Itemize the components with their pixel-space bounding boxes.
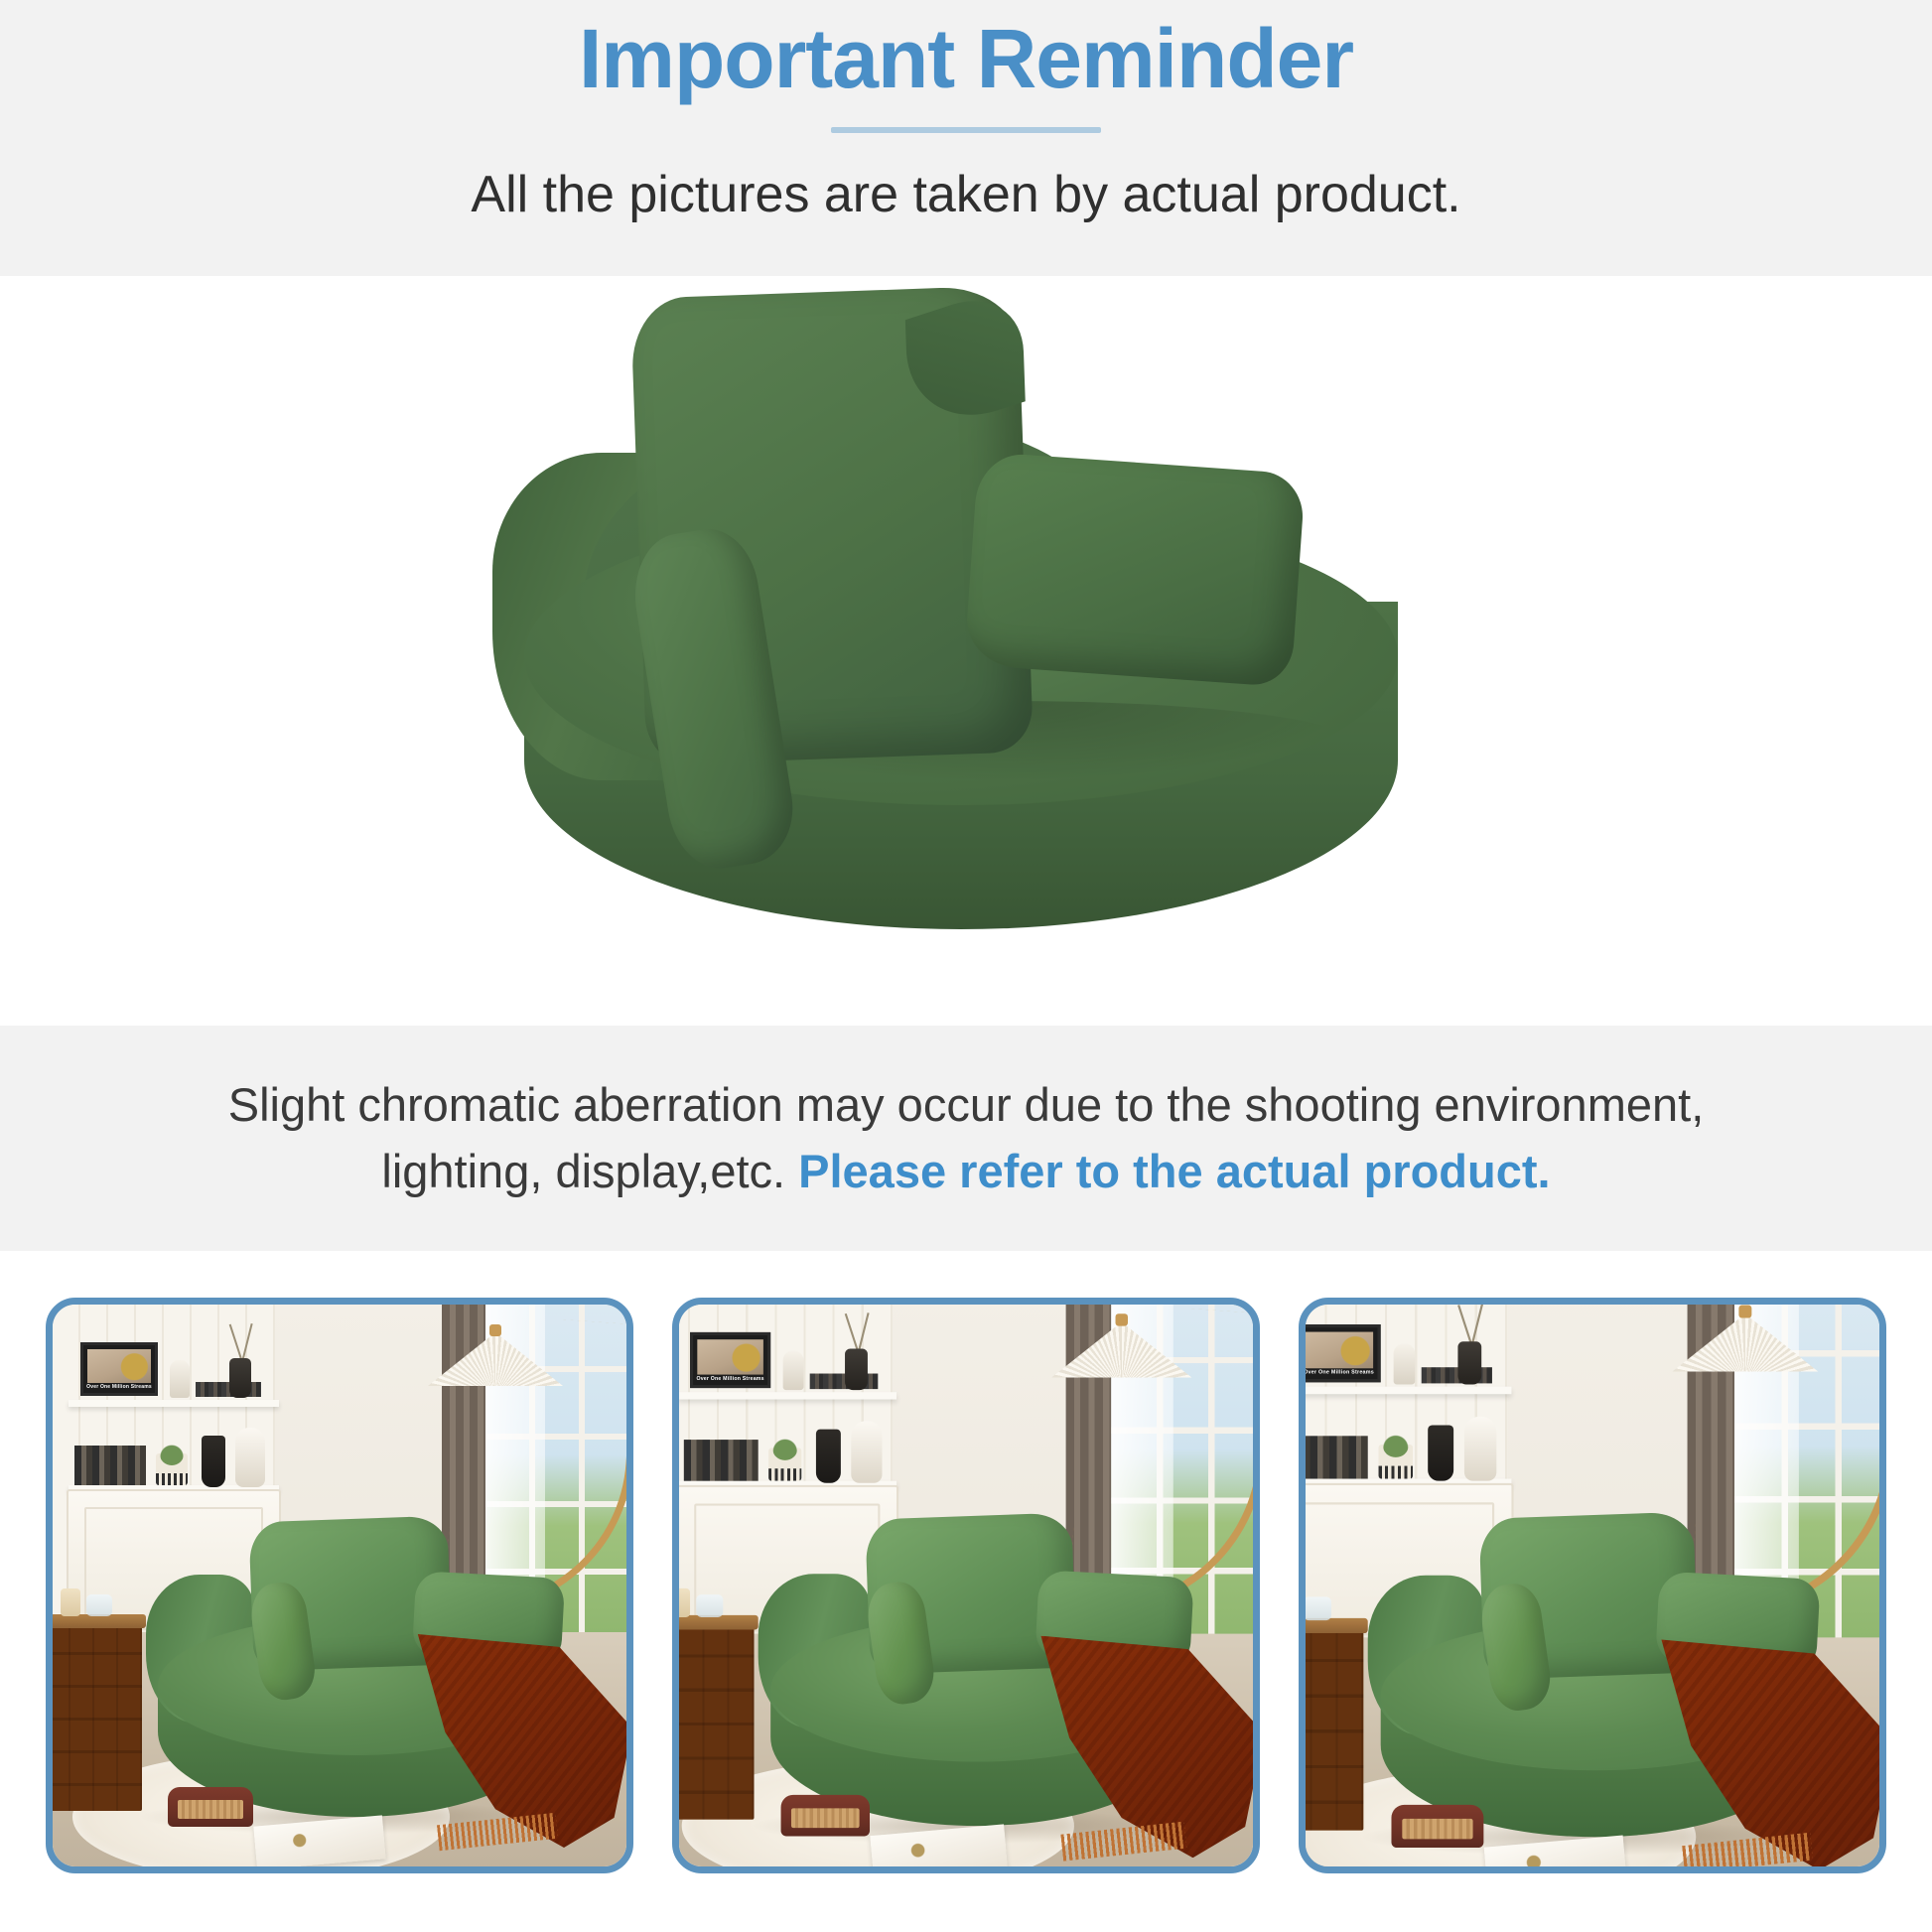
lifestyle-scene-3: Over One Million Streams [1306, 1305, 1879, 1866]
nightstand-top [679, 1615, 759, 1630]
thumbnail-1[interactable]: Over One Million Streams [46, 1298, 633, 1873]
black-sculptural-vase [816, 1430, 841, 1483]
header-band: Important Reminder All the pictures are … [0, 0, 1932, 276]
thumbnail-2[interactable]: Over One Million Streams [672, 1298, 1260, 1873]
disclaimer-line-1: Slight chromatic aberration may occur du… [228, 1072, 1705, 1139]
poster-caption: Over One Million Streams [696, 1376, 763, 1382]
book-stack-lower [1306, 1436, 1368, 1478]
nightstand-top [53, 1614, 146, 1628]
book-stack-upper [810, 1374, 879, 1390]
vintage-radio [1391, 1805, 1483, 1848]
hero-product-band [0, 276, 1932, 1026]
dark-vase [229, 1358, 251, 1398]
gold-record-poster: Over One Million Streams [80, 1342, 158, 1396]
dark-vase [845, 1349, 868, 1391]
lamp-finial [1116, 1313, 1128, 1325]
disclaimer-band: Slight chromatic aberration may occur du… [0, 1026, 1932, 1251]
poster-caption: Over One Million Streams [1306, 1369, 1374, 1375]
product-reminder-page: Important Reminder All the pictures are … [0, 0, 1932, 1932]
right-lumbar-pillow [964, 451, 1306, 686]
shelf-upper [1306, 1387, 1511, 1395]
white-sculptural-vase [235, 1428, 265, 1487]
gold-record-poster: Over One Million Streams [690, 1332, 770, 1388]
thumbnail-band: Over One Million Streams [0, 1251, 1932, 1932]
thumbnail-3[interactable]: Over One Million Streams [1299, 1298, 1886, 1873]
disclaimer-line-2: lighting, display,etc. Please refer to t… [381, 1139, 1550, 1205]
glass-jar [696, 1594, 723, 1617]
vintage-radio [781, 1795, 870, 1837]
white-sculptural-vase [851, 1421, 882, 1482]
lamp-finial [489, 1324, 501, 1336]
figurine [1394, 1343, 1416, 1384]
black-sculptural-vase [202, 1436, 225, 1487]
dried-branches [221, 1318, 271, 1362]
gold-record-poster: Over One Million Streams [1306, 1324, 1381, 1382]
black-sculptural-vase [1428, 1426, 1453, 1481]
book-stack-upper [1422, 1367, 1492, 1383]
white-sculptural-vase [1464, 1417, 1496, 1481]
wooden-nightstand [679, 1623, 755, 1820]
wooden-nightstand [1306, 1627, 1363, 1831]
figurine [783, 1351, 804, 1391]
lifestyle-scene-2: Over One Million Streams [679, 1305, 1253, 1866]
nightstand-top [1306, 1618, 1368, 1633]
lamp-finial [1738, 1306, 1751, 1318]
disclaimer-line-2-plain: lighting, display,etc. [381, 1145, 798, 1197]
glass-jar [86, 1594, 112, 1616]
record-artwork [1306, 1332, 1373, 1369]
shelf-upper [69, 1400, 279, 1407]
potted-plant [156, 1453, 188, 1485]
glass-jar [1306, 1596, 1331, 1620]
header-subtitle: All the pictures are taken by actual pro… [471, 165, 1460, 224]
book-stack-lower [74, 1446, 146, 1485]
figurine [170, 1360, 190, 1398]
vintage-radio [168, 1787, 253, 1827]
candle [679, 1588, 690, 1617]
potted-plant [1379, 1445, 1414, 1479]
candle [61, 1588, 80, 1616]
hero-product-image [465, 304, 1467, 999]
book-stack-lower [684, 1440, 759, 1481]
book-stack-upper [196, 1382, 261, 1397]
disclaimer-accent: Please refer to the actual product. [798, 1145, 1550, 1197]
record-artwork [87, 1349, 151, 1383]
wooden-nightstand [53, 1622, 142, 1811]
dark-vase [1457, 1341, 1481, 1384]
dried-branches [1449, 1305, 1503, 1346]
record-artwork [697, 1339, 763, 1374]
throw-fringe [1682, 1833, 1813, 1866]
title-divider [831, 127, 1101, 133]
poster-caption: Over One Million Streams [86, 1384, 152, 1390]
dried-branches [837, 1308, 889, 1353]
page-title: Important Reminder [579, 12, 1353, 105]
shelf-upper [679, 1392, 897, 1399]
potted-plant [768, 1448, 801, 1480]
lifestyle-scene-1: Over One Million Streams [53, 1305, 626, 1866]
